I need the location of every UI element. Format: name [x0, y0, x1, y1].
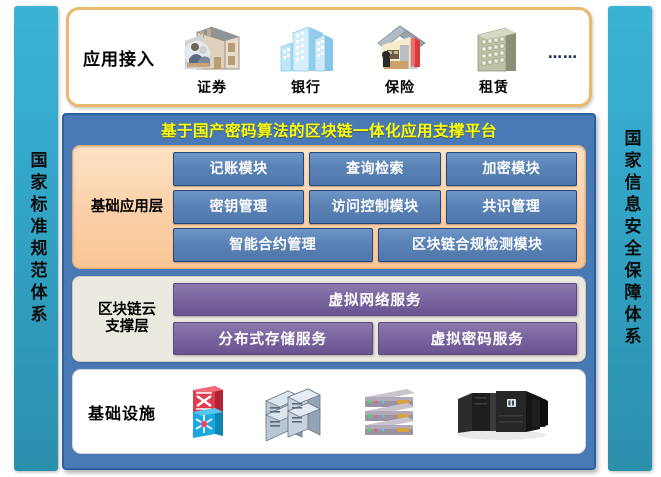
sidebar-right-label: 国家信息安全保障体系: [622, 129, 639, 349]
infrastructure-items: [171, 381, 585, 443]
service-virtual-network[interactable]: 虚拟网络服务: [173, 283, 577, 316]
bank-buildings-icon: [277, 17, 335, 75]
infrastructure-label: 基础设施: [73, 400, 171, 424]
app-item-caption: 租赁: [479, 77, 509, 97]
application-access-panel: 应用接入: [66, 7, 592, 107]
cloud-layer-label-line1: 区块链云: [98, 302, 156, 318]
app-item-caption: 证券: [197, 77, 227, 97]
network-switch-icon: [189, 381, 227, 443]
module-row: 记账模块 查询检索 加密模块: [173, 152, 577, 186]
service-row: 分布式存储服务 虚拟密码服务: [173, 322, 577, 355]
service-virtual-cryptography[interactable]: 虚拟密码服务: [378, 322, 578, 355]
module-key-management[interactable]: 密钥管理: [173, 190, 304, 224]
module-blockchain-compliance-detection[interactable]: 区块链合规检测模块: [378, 228, 578, 262]
app-item-securities[interactable]: 证券: [172, 17, 252, 97]
server-rack-icon: [262, 381, 324, 443]
platform-container: 基于国产密码算法的区块链一体化应用支撑平台 基础应用层 记账模块 查询检索 加密…: [62, 113, 596, 470]
app-item-lease[interactable]: 租赁: [454, 17, 534, 97]
module-access-control[interactable]: 访问控制模块: [309, 190, 440, 224]
mainframe-storage-icon: [454, 381, 550, 443]
blockchain-cloud-support-layer: 区块链云 支撑层 虚拟网络服务 分布式存储服务 虚拟密码服务: [72, 276, 586, 362]
module-consensus-management[interactable]: 共识管理: [446, 190, 577, 224]
infrastructure-panel: 基础设施: [72, 369, 586, 454]
cloud-layer-label: 区块链云 支撑层: [81, 302, 173, 335]
module-ledger[interactable]: 记账模块: [173, 152, 304, 186]
base-application-layer-label: 基础应用层: [81, 199, 173, 216]
base-application-layer: 基础应用层 记账模块 查询检索 加密模块 密钥管理 访问控制模块 共识管理 智能…: [72, 145, 586, 269]
more-apps-ellipsis: ……: [548, 46, 578, 68]
sidebar-national-standard-system: 国家标准规范体系: [14, 6, 58, 471]
sidebar-national-info-security-system: 国家信息安全保障体系: [608, 6, 652, 471]
house-people-icon: [181, 17, 243, 75]
application-access-items: 证券: [165, 17, 589, 97]
app-item-insurance[interactable]: 保险: [360, 17, 440, 97]
application-access-label: 应用接入: [83, 45, 155, 70]
house-interior-icon: [370, 17, 430, 75]
cloud-layer-label-line2: 支撑层: [105, 319, 149, 335]
app-item-caption: 银行: [291, 77, 321, 97]
module-row: 智能合约管理 区块链合规检测模块: [173, 228, 577, 262]
office-building-icon: [468, 17, 520, 75]
app-item-caption: 保险: [385, 77, 415, 97]
base-application-modules: 记账模块 查询检索 加密模块 密钥管理 访问控制模块 共识管理 智能合约管理 区…: [173, 152, 577, 262]
module-encryption[interactable]: 加密模块: [446, 152, 577, 186]
diagram-canvas: 国家标准规范体系 国家信息安全保障体系 应用接入: [0, 0, 661, 477]
service-row: 虚拟网络服务: [173, 283, 577, 316]
rack-servers-icon: [359, 381, 419, 443]
module-query-search[interactable]: 查询检索: [309, 152, 440, 186]
platform-title: 基于国产密码算法的区块链一体化应用支撑平台: [64, 115, 594, 145]
module-smart-contract-management[interactable]: 智能合约管理: [173, 228, 373, 262]
module-row: 密钥管理 访问控制模块 共识管理: [173, 190, 577, 224]
service-distributed-storage[interactable]: 分布式存储服务: [173, 322, 373, 355]
app-item-bank[interactable]: 银行: [266, 17, 346, 97]
cloud-services: 虚拟网络服务 分布式存储服务 虚拟密码服务: [173, 283, 577, 355]
sidebar-left-label: 国家标准规范体系: [28, 151, 45, 327]
